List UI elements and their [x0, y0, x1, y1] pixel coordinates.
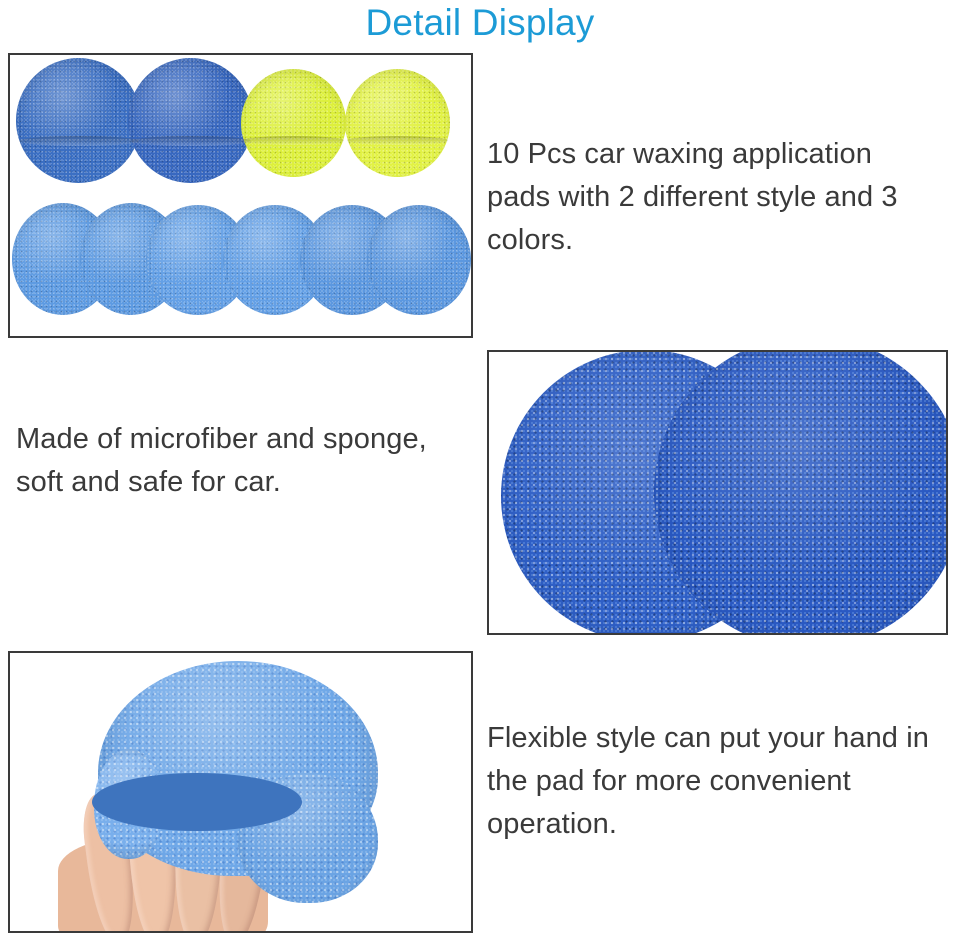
pad-dark-blue-1	[16, 58, 141, 183]
pad-dark-blue-2	[128, 58, 253, 183]
pad-yellow-green-1	[241, 69, 346, 177]
pads-closeup-stage	[489, 352, 946, 633]
pad-closeup-front	[654, 350, 948, 635]
pad-opening	[92, 773, 302, 831]
feature-text-flexible-style: Flexible style can put your hand in the …	[487, 717, 937, 846]
pad-seam	[243, 136, 344, 145]
feature-text-material: Made of microfiber and sponge, soft and …	[16, 418, 476, 504]
pad-seam	[347, 136, 448, 145]
pads-group-stage	[10, 55, 471, 336]
pad-seam	[131, 136, 251, 146]
pad-light-blue-6	[367, 205, 471, 315]
pad-yellow-green-2	[345, 69, 450, 177]
product-image-pads-closeup	[487, 350, 948, 635]
product-image-hand-in-pad	[8, 651, 473, 933]
page-title: Detail Display	[0, 0, 960, 47]
product-image-pads-group	[8, 53, 473, 338]
pad-seam	[19, 136, 139, 146]
hand-in-pad-stage	[10, 653, 471, 931]
feature-text-quantity-and-variants: 10 Pcs car waxing application pads with …	[487, 133, 927, 262]
